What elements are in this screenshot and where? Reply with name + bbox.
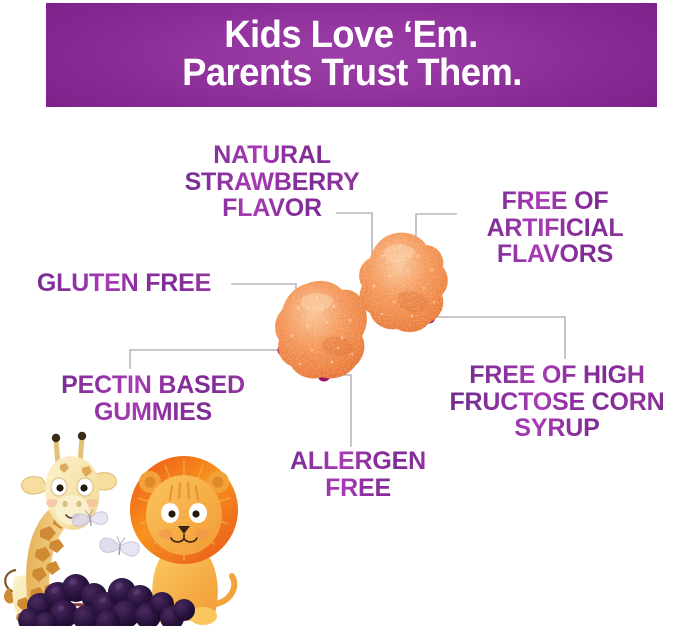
label-gluten-free: GLUTEN FREE	[10, 270, 238, 297]
connector-pectin-based-gummies	[130, 350, 284, 368]
label-allergen-free: ALLERGEN FREE	[258, 448, 458, 501]
butterfly-icon	[99, 535, 140, 557]
illustration-group	[0, 418, 240, 626]
label-free-of-artificial-flavors: FREE OF ARTIFICIAL FLAVORS	[455, 188, 655, 268]
label-natural-strawberry-flavor: NATURAL STRAWBERRY FLAVOR	[168, 142, 376, 222]
label-free-of-high-fructose-corn-syrup: FREE OF HIGH FRUCTOSE CORN SYRUP	[442, 362, 672, 442]
promo-image: Kids Love ‘Em. Parents Trust Them.	[0, 0, 679, 626]
gummy-right	[352, 230, 457, 338]
